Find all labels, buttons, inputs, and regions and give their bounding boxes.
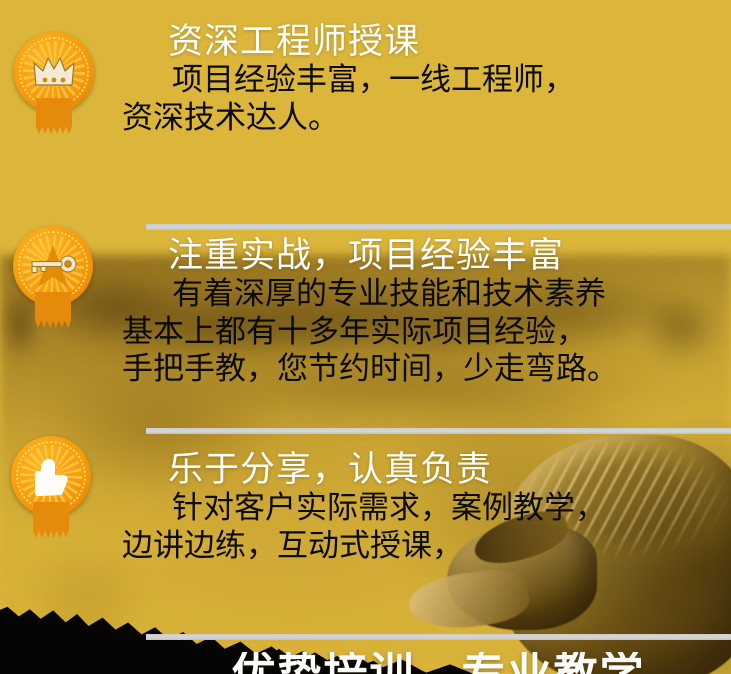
feature-body-3-line-2: 边讲边练，互动式授课，	[120, 528, 731, 566]
feature-title-1: 资深工程师授课	[120, 24, 731, 62]
promo-poster: 资深工程师授课 项目经验丰富，一线工程师， 资深技术达人。	[0, 0, 731, 674]
thumbs-up-medal-icon	[11, 436, 91, 516]
badge-2	[9, 226, 95, 330]
feature-text-2: 注重实战，项目经验丰富 有着深厚的专业技能和技术素养 基本上都有十多年实际项目经…	[120, 238, 731, 389]
badge-1	[10, 32, 96, 136]
feature-body-1-line-2: 资深技术达人。	[120, 100, 731, 138]
feature-body-3: 针对客户实际需求，案例教学， 边讲边练，互动式授课，	[120, 490, 731, 566]
feature-text-1: 资深工程师授课 项目经验丰富，一线工程师， 资深技术达人。	[120, 24, 731, 137]
feature-body-1-line-1: 项目经验丰富，一线工程师，	[120, 62, 731, 100]
feature-title-2: 注重实战，项目经验丰富	[120, 238, 731, 276]
crown-medal-icon	[14, 32, 94, 112]
badge-3	[7, 436, 93, 540]
feature-body-2-line-3: 手把手教，您节约时间，少走弯路。	[120, 351, 731, 389]
feature-body-1: 项目经验丰富，一线工程师， 资深技术达人。	[120, 62, 731, 138]
feature-title-3: 乐于分享，认真负责	[120, 452, 731, 490]
divider-3	[146, 634, 731, 640]
bottom-cutoff-title: 优势培训，专业教学	[146, 652, 731, 674]
feature-body-2-line-2: 基本上都有十多年实际项目经验，	[120, 314, 731, 352]
feature-body-2: 有着深厚的专业技能和技术素养 基本上都有十多年实际项目经验， 手把手教，您节约时…	[120, 276, 731, 389]
key-star-medal-icon	[13, 226, 93, 306]
feature-body-2-line-1: 有着深厚的专业技能和技术素养	[120, 276, 731, 314]
feature-body-3-line-1: 针对客户实际需求，案例教学，	[120, 490, 731, 528]
divider-1	[146, 224, 731, 230]
divider-2	[146, 428, 731, 434]
feature-text-3: 乐于分享，认真负责 针对客户实际需求，案例教学， 边讲边练，互动式授课，	[120, 452, 731, 565]
